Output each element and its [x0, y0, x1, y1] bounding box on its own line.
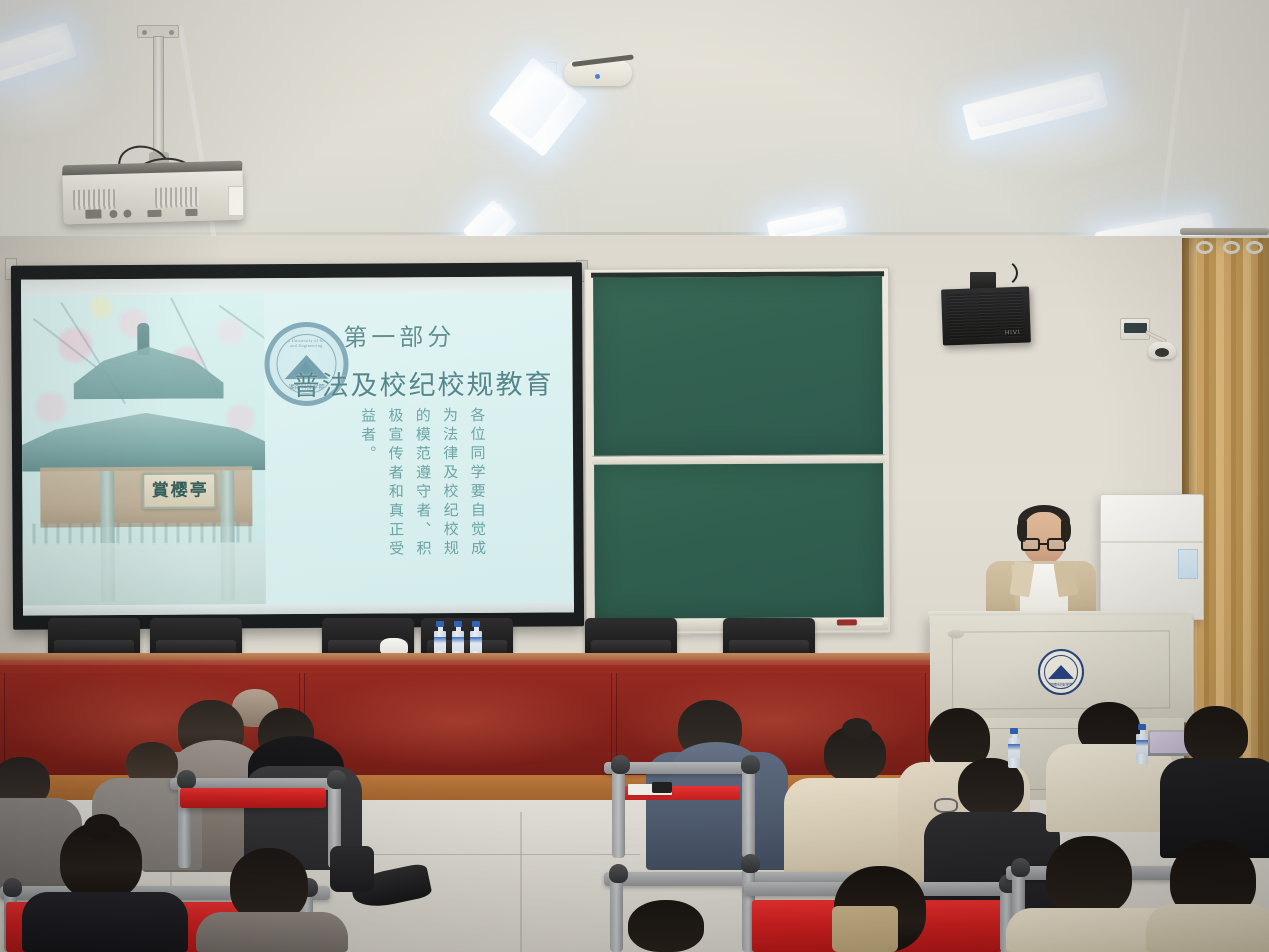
blackboard [584, 267, 891, 635]
ceiling-projector [62, 168, 243, 225]
presenter-glasses [1021, 538, 1068, 551]
ac-energy-sticker [1178, 549, 1198, 579]
floor-tile-line [520, 812, 522, 952]
podium-emblem: 湖南科技学院 [1038, 649, 1084, 695]
seat-cap [741, 755, 760, 774]
audience-body [1146, 904, 1269, 952]
audience-body [196, 912, 348, 952]
hair-bun [842, 718, 872, 740]
seat-post [612, 762, 625, 858]
plaque-char: 亭 [190, 482, 207, 499]
seat-cap [741, 854, 760, 873]
projection-screen: 賞 樱 亭 Hunan University of Science and En… [11, 262, 584, 629]
podium-microphone-base [948, 630, 964, 639]
seat-cap [1011, 858, 1030, 877]
seat-cap [327, 770, 346, 789]
podium-emblem-ring: 湖南科技学院 [1044, 655, 1078, 689]
seat-post [742, 762, 755, 858]
curtain-grommet [1196, 241, 1213, 254]
blackboard-upper-panel [593, 276, 883, 458]
seat-post [610, 872, 623, 952]
audience-body [22, 892, 188, 952]
seat-cap [3, 878, 22, 897]
dome-security-camera [1148, 342, 1176, 359]
audience-head [1184, 706, 1248, 764]
projector-mount-pole [153, 36, 164, 156]
slide-heading: 普法及校纪校规教育 [292, 362, 553, 403]
pavilion-main-roof [21, 412, 266, 472]
slide-surface: 賞 樱 亭 Hunan University of Science and En… [21, 276, 574, 615]
blackboard-lower-panel [594, 463, 884, 621]
audience-leg [330, 846, 374, 892]
water-bottle[interactable] [1136, 724, 1148, 764]
audience-glasses [934, 798, 958, 813]
control-panel-screen [1124, 323, 1147, 333]
screen-top-band [21, 276, 572, 295]
audience-legs [832, 906, 898, 952]
plaque-char: 賞 [152, 482, 169, 499]
slide-text-column: 益者。 [359, 408, 378, 560]
pavilion-upper-roof [73, 346, 223, 399]
slide-photo-pavilion: 賞 樱 亭 [21, 294, 266, 605]
podium-emblem-peak [1048, 665, 1074, 679]
curtain-rod [1180, 228, 1269, 235]
podium: 湖南科技学院 [930, 614, 1193, 723]
screen-bottom-band [23, 602, 574, 615]
seat-cap [177, 770, 196, 789]
chalk-stick [859, 621, 883, 625]
audience-head [1046, 836, 1132, 916]
slide-text-column: 极宣传者和真正受 [386, 407, 405, 559]
eraser [837, 619, 857, 625]
seat-back[interactable] [180, 788, 326, 808]
dais-panel [304, 673, 612, 769]
seat-cap [609, 864, 628, 883]
slide-text-column: 各位同学要自觉成 [468, 407, 487, 559]
pavilion-plaque: 賞 樱 亭 [142, 472, 216, 508]
seal-outer-text: Hunan University of Science and Engineer… [277, 338, 335, 348]
phone[interactable] [652, 782, 672, 793]
projector-sticker [228, 186, 244, 216]
slide-text-column: 为法律及校纪校规 [441, 407, 460, 559]
water-bottle[interactable] [1008, 728, 1020, 768]
speaker-brand-label: HIVI [1005, 330, 1021, 337]
audience-body [1046, 744, 1174, 832]
wall-control-panel[interactable] [1120, 318, 1150, 340]
plaque-char: 樱 [171, 482, 188, 499]
audience-head [230, 848, 308, 922]
slide-text-column: 的模范遵守者、积 [413, 407, 432, 559]
seat-cap [611, 755, 630, 774]
pavilion-base [23, 542, 266, 605]
podium-emblem-label: 湖南科技学院 [1045, 682, 1077, 688]
slide-section-label: 第一部分 [343, 317, 455, 353]
audience-head [628, 900, 704, 952]
wall-speaker: HIVI [941, 286, 1031, 345]
curtain-grommet [1246, 241, 1263, 254]
ceiling-seam [0, 232, 1269, 235]
ac-seam [1101, 541, 1203, 543]
slide-body-text: 各位同学要自觉成 为法律及校纪校规 的模范遵守者、积 极宣传者和真正受 益者。 [359, 407, 487, 560]
hair-bun [84, 814, 120, 840]
air-conditioner [1100, 494, 1204, 620]
lecture-hall-scene: 賞 樱 亭 Hunan University of Science and En… [0, 0, 1269, 952]
ceiling [0, 0, 1269, 268]
curtain-grommet [1223, 241, 1240, 254]
